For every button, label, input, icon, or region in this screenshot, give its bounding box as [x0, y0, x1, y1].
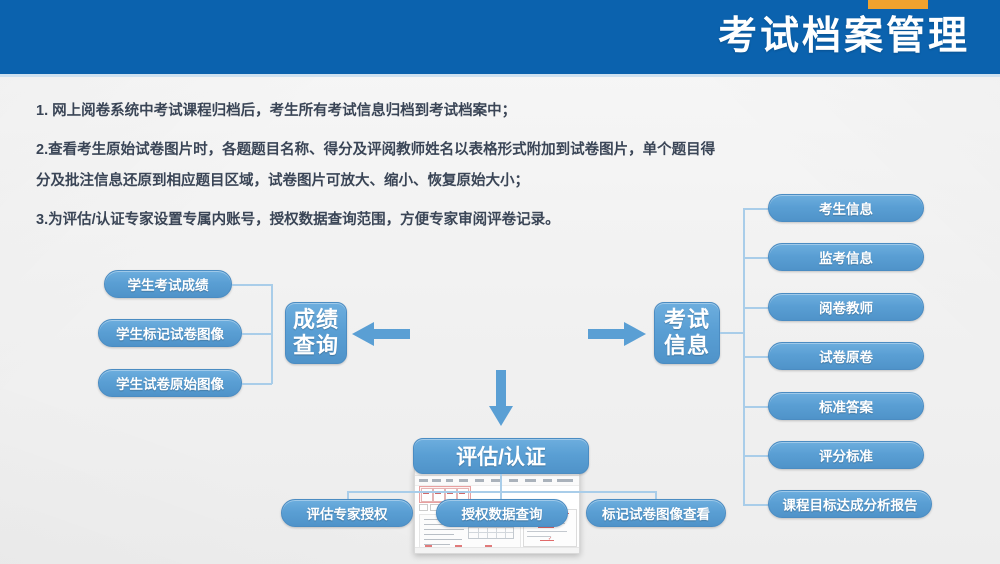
diagram-area: ✓ ✓ 学生考试成绩 学生标记试卷图像 学生试卷原始图像 成绩 查询	[0, 180, 1000, 564]
connector-right-3	[743, 307, 769, 309]
connector-right-hub-stub	[720, 332, 744, 334]
node-bottom-item-2[interactable]: 授权数据查询	[436, 499, 568, 527]
connector-right-4	[743, 356, 769, 358]
arrow-to-score-query	[352, 322, 410, 346]
connector-right-7	[743, 504, 769, 506]
body-paragraph-1: 1. 网上阅卷系统中考试课程归档后，考生所有考试信息归档到考试档案中；	[36, 96, 716, 127]
node-right-item-6[interactable]: 评分标准	[768, 441, 924, 469]
screenshot-toolbar	[415, 476, 579, 486]
hub-exam-info-line1: 考试	[664, 307, 710, 333]
connector-left-2	[242, 333, 272, 335]
node-right-item-5[interactable]: 标准答案	[768, 392, 924, 420]
connector-left-spine	[271, 284, 273, 384]
arrow-to-exam-info	[588, 322, 646, 346]
hub-exam-info[interactable]: 考试 信息	[654, 302, 720, 364]
node-right-item-1[interactable]: 考生信息	[768, 194, 924, 222]
node-bottom-item-1[interactable]: 评估专家授权	[281, 499, 413, 527]
connector-bottom-drop	[500, 474, 502, 492]
page-title: 考试档案管理	[718, 8, 970, 66]
connector-right-1	[743, 208, 769, 210]
node-right-item-3[interactable]: 阅卷教师	[768, 293, 924, 321]
connector-right-6	[743, 455, 769, 457]
node-right-item-4[interactable]: 试卷原卷	[768, 342, 924, 370]
node-left-item-1[interactable]: 学生考试成绩	[104, 270, 232, 298]
slide-root: 考试档案管理 1. 网上阅卷系统中考试课程归档后，考生所有考试信息归档到考试档案…	[0, 0, 1000, 564]
red-check-mark-icon: ✓	[548, 537, 552, 542]
node-bottom-item-3[interactable]: 标记试卷图像查看	[586, 499, 726, 527]
hub-evaluation-certification[interactable]: 评估/认证	[413, 438, 589, 474]
arrow-to-evaluation	[489, 370, 513, 426]
hub-score-query[interactable]: 成绩 查询	[285, 302, 347, 364]
connector-right-5	[743, 406, 769, 408]
node-left-item-3[interactable]: 学生试卷原始图像	[98, 369, 242, 397]
connector-right-2	[743, 257, 769, 259]
node-right-item-7[interactable]: 课程目标达成分析报告	[768, 490, 932, 518]
header-underline	[0, 74, 1000, 77]
connector-left-1	[232, 284, 272, 286]
connector-bottom-rail	[347, 491, 656, 493]
connector-left-3	[242, 383, 272, 385]
hub-exam-info-line2: 信息	[664, 333, 710, 359]
hub-score-query-line2: 查询	[293, 333, 339, 359]
screenshot-statusbar	[415, 547, 579, 553]
node-right-item-2[interactable]: 监考信息	[768, 243, 924, 271]
node-left-item-2[interactable]: 学生标记试卷图像	[98, 319, 242, 347]
hub-score-query-line1: 成绩	[293, 307, 339, 333]
